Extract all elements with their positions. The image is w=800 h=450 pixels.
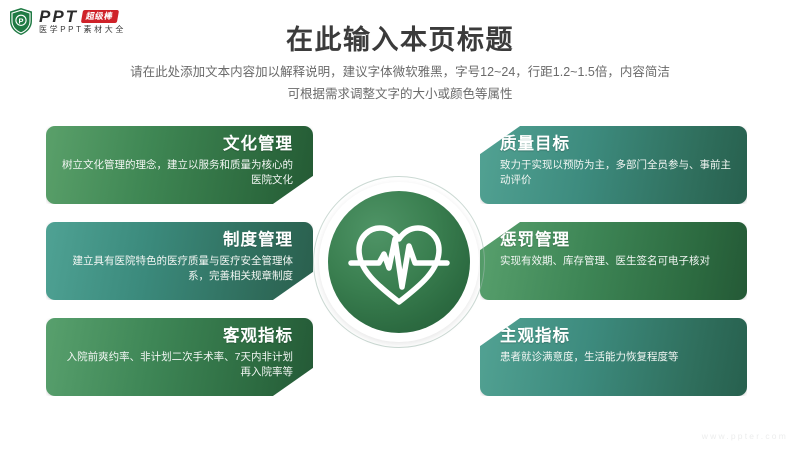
page-subtitle: 请在此处添加文本内容加以解释说明，建议字体微软雅黑，字号12~24，行距1.2~…: [100, 62, 700, 106]
card-description: 树立文化管理的理念，建立以服务和质量为核心的医院文化: [62, 158, 293, 188]
card-title: 质量目标: [500, 135, 731, 154]
card-description: 实现有效期、库存管理、医生签名可电子核对: [500, 254, 731, 269]
card-title: 主观指标: [500, 327, 731, 346]
card-description: 致力于实现以预防为主，多部门全员参与、事前主动评价: [500, 158, 731, 188]
card-description: 患者就诊满意度，生活能力恢复程度等: [500, 350, 731, 365]
card-title: 文化管理: [62, 135, 293, 154]
card-right-3[interactable]: 主观指标 患者就诊满意度，生活能力恢复程度等: [480, 318, 747, 396]
heart-pulse-icon: [347, 213, 451, 311]
card-left-2[interactable]: 制度管理 建立具有医院特色的医疗质量与医疗安全管理体系，完善相关规章制度: [46, 222, 313, 300]
center-emblem: [313, 176, 485, 348]
card-title: 惩罚管理: [500, 231, 731, 250]
subtitle-line-1: 请在此处添加文本内容加以解释说明，建议字体微软雅黑，字号12~24，行距1.2~…: [100, 62, 700, 84]
card-left-1[interactable]: 文化管理 树立文化管理的理念，建立以服务和质量为核心的医院文化: [46, 126, 313, 204]
card-right-1[interactable]: 质量目标 致力于实现以预防为主，多部门全员参与、事前主动评价: [480, 126, 747, 204]
subtitle-line-2: 可根据需求调整文字的大小或颜色等属性: [100, 84, 700, 106]
card-description: 入院前爽约率、非计划二次手术率、7天内非计划再入院率等: [62, 350, 293, 380]
page-title: 在此输入本页标题: [0, 18, 800, 57]
card-title: 客观指标: [62, 327, 293, 346]
card-description: 建立具有医院特色的医疗质量与医疗安全管理体系，完善相关规章制度: [62, 254, 293, 284]
card-right-2[interactable]: 惩罚管理 实现有效期、库存管理、医生签名可电子核对: [480, 222, 747, 300]
site-watermark: www.ppter.com: [702, 431, 788, 441]
emblem-disc: [328, 191, 470, 333]
card-title: 制度管理: [62, 231, 293, 250]
slide-canvas: P PPT 超级棒 医学PPT素材大全 在此输入本页标题 请在此处添加文本内容加…: [0, 0, 800, 450]
card-left-3[interactable]: 客观指标 入院前爽约率、非计划二次手术率、7天内非计划再入院率等: [46, 318, 313, 396]
